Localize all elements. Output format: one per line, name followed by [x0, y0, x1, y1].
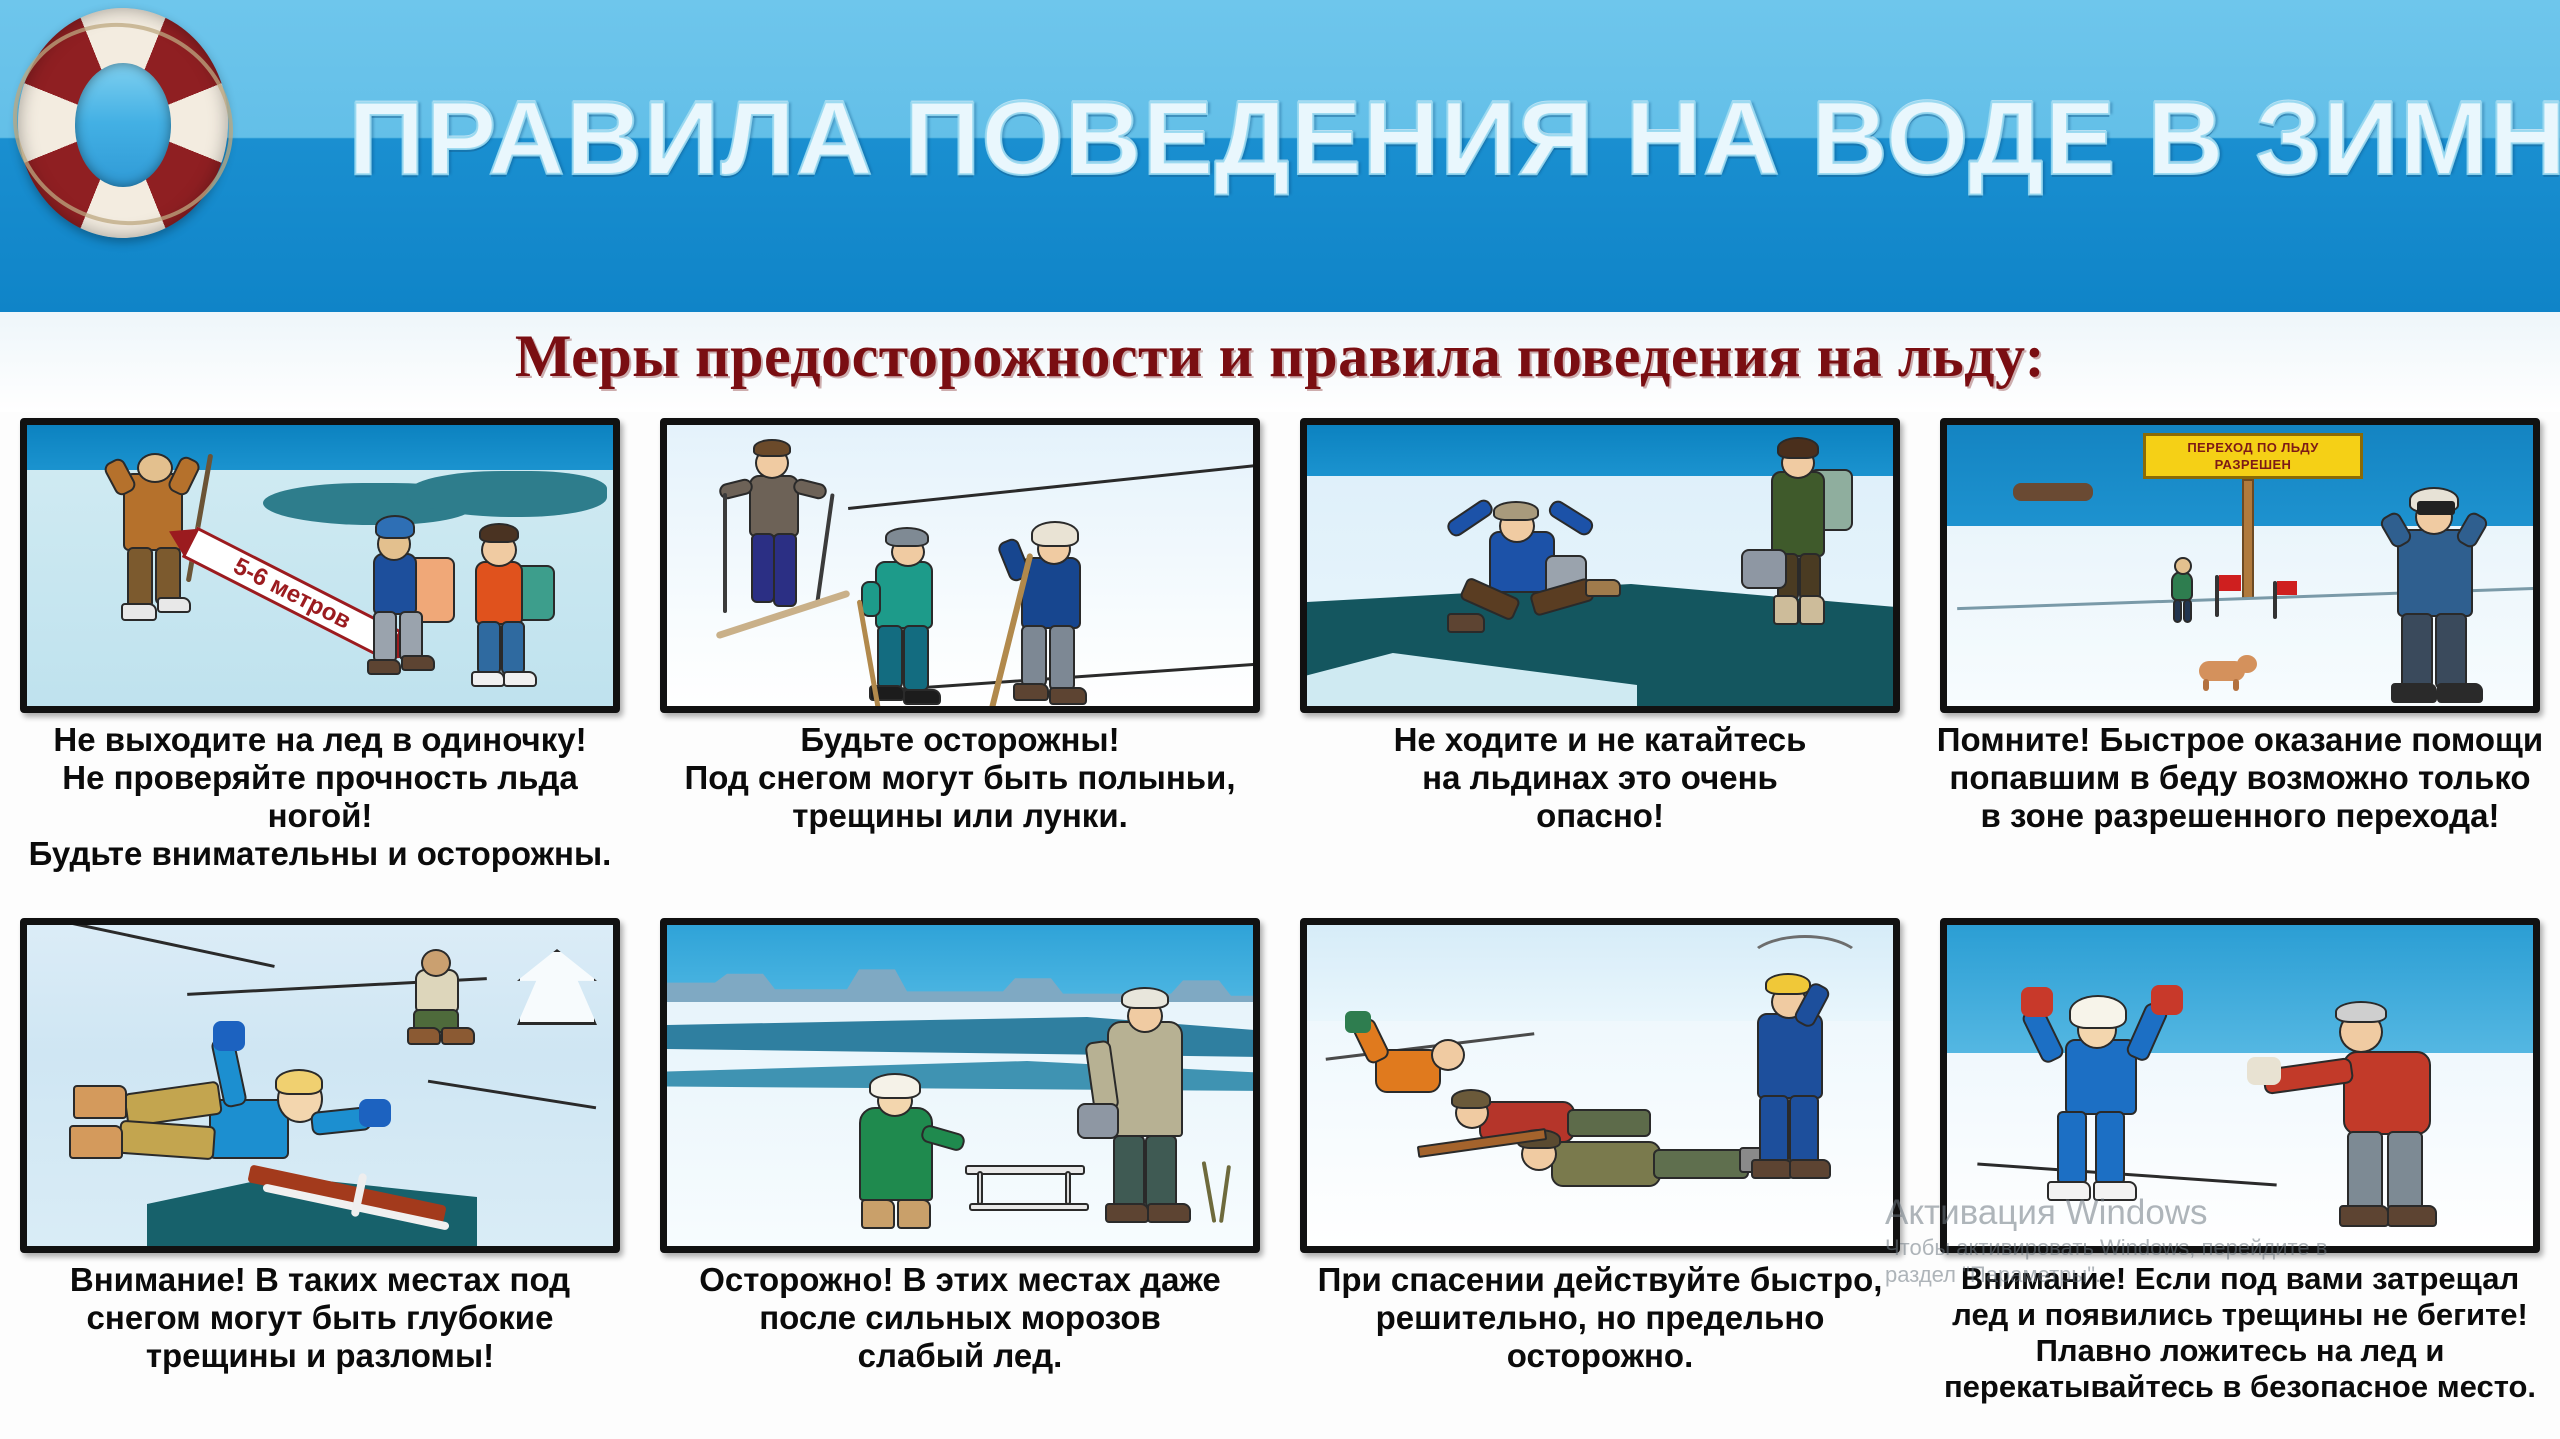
panel-7-caption: При спасении действуйте быстро, решитель…: [1288, 1261, 1912, 1375]
figure-boy-jumping: [1435, 501, 1615, 681]
caption-line: перекатывайтесь в безопасное место.: [1928, 1369, 2552, 1405]
figure-adult-observer: [1087, 985, 1227, 1235]
caption-line: Плавно ложитесь на лед и: [1928, 1333, 2552, 1369]
panel-4-image: ПЕРЕХОД ПО ЛЬДУ РАЗРЕШЕН: [1940, 418, 2540, 713]
figure-torso: [2171, 571, 2193, 601]
valenki-boot: [73, 1085, 127, 1119]
figure-leg: [2387, 1131, 2423, 1211]
knit-hat: [479, 523, 519, 543]
caption-line: Под снегом могут быть полыньи,: [648, 759, 1272, 797]
skate: [2093, 1181, 2137, 1201]
skate: [1013, 683, 1049, 701]
figure-hockey-player-green: [857, 529, 977, 713]
panel-4-caption: Помните! Быстрое оказание помощи попавши…: [1928, 721, 2552, 835]
caption-line: Осторожно! В этих местах даже: [648, 1261, 1272, 1299]
panel-6-image: [660, 918, 1260, 1253]
sign-post: [2242, 479, 2254, 599]
caption-line: Не проверяйте прочность льда ногой!: [8, 759, 632, 835]
knit-hat: [885, 527, 929, 547]
panel-5-image: [20, 918, 620, 1253]
figure-leg: [399, 611, 423, 661]
figure-leg: [2435, 613, 2467, 689]
figure-leg: [2095, 1111, 2125, 1185]
figure-arm: [1444, 497, 1496, 540]
caption-line: трещины или лунки.: [648, 797, 1272, 835]
mitten: [2247, 1057, 2281, 1085]
panel-cell-2: Будьте осторожны! Под снегом могут быть …: [640, 418, 1280, 918]
panel-cell-8: Внимание! Если под вами затрещал лед и п…: [1920, 918, 2560, 1439]
poster-header: ПРАВИЛА ПОВЕДЕНИЯ НА ВОДЕ В ЗИМНЕЕ ВРЕМЯ: [0, 0, 2560, 312]
gray-hair: [2335, 1001, 2387, 1023]
figure-leg: [2183, 599, 2192, 623]
figure-leg: [1789, 1095, 1819, 1165]
panel-8-image: [1940, 918, 2540, 1253]
red-marker-flag: [2277, 581, 2297, 595]
figure-boot: [2391, 683, 2437, 703]
figure-child-on-cracking-ice: [2017, 985, 2207, 1215]
subtitle: Меры предосторожности и правила поведени…: [0, 322, 2560, 391]
figure-head: [137, 453, 173, 483]
caption-line: Внимание! В таких местах под: [8, 1261, 632, 1299]
caption-line: трещины и разломы!: [8, 1337, 632, 1375]
panel-cell-3: Не ходите и не катайтесь на льдинах это …: [1280, 418, 1920, 918]
panel-3-caption: Не ходите и не катайтесь на льдинах это …: [1288, 721, 1912, 835]
caption-line: на льдинах это очень: [1288, 759, 1912, 797]
dog-head: [2237, 655, 2257, 673]
caption-line: Помните! Быстрое оказание помощи: [1928, 721, 2552, 759]
mitten: [213, 1021, 245, 1051]
figure-adult-reaching: [2247, 987, 2497, 1237]
valenki-boot: [897, 1199, 931, 1229]
figure-leg: [2347, 1131, 2383, 1211]
sled-leg: [1065, 1171, 1071, 1205]
sign-line-2: РАЗРЕШЕН: [2215, 456, 2292, 473]
figure-boot: [2437, 683, 2483, 703]
figure-boot: [441, 1027, 475, 1045]
caption-line: слабый лед.: [648, 1337, 1272, 1375]
panel-3-image: [1300, 418, 1900, 713]
figure-leg: [1113, 1135, 1145, 1209]
sign-line-1: ПЕРЕХОД ПО ЛЬДУ: [2187, 439, 2318, 456]
figure-boot: [471, 671, 505, 687]
figure-leg: [877, 625, 903, 689]
panel-cell-6: Осторожно! В этих местах даже после силь…: [640, 918, 1280, 1439]
knit-hat: [375, 515, 415, 539]
figure-boot: [121, 603, 157, 621]
figure-child-with-sled: [843, 1073, 983, 1253]
caption-line: Не выходите на лед в одиночку!: [8, 721, 632, 759]
figure-head: [421, 949, 451, 977]
figure-boot: [1447, 613, 1485, 633]
figure-leg: [501, 621, 525, 675]
caption-line: лед и появились трещины не бегите!: [1928, 1297, 2552, 1333]
panel-1-image: 5-6 метров: [20, 418, 620, 713]
figure-child-blue: [365, 511, 465, 686]
figure-head: [1431, 1039, 1465, 1071]
valenki-boot: [1773, 595, 1799, 625]
figure-boot: [1789, 1159, 1831, 1179]
page-title: ПРАВИЛА ПОВЕДЕНИЯ НА ВОДЕ В ЗИМНЕЕ ВРЕМЯ: [348, 78, 2560, 208]
caption-line: Будьте внимательны и осторожны.: [8, 835, 632, 873]
figure-torso: [1551, 1141, 1661, 1187]
figure-leg: [477, 621, 501, 675]
panel-row-1: 5-6 метров: [0, 418, 2560, 918]
mitten: [2021, 987, 2053, 1017]
figure-adult-observer: [1755, 439, 1875, 629]
caption-line: опасно!: [1288, 797, 1912, 835]
skate: [2047, 1181, 2091, 1201]
caption-line: решительно, но предельно: [1288, 1299, 1912, 1337]
caption-line: осторожно.: [1288, 1337, 1912, 1375]
figure-torso: [1757, 1013, 1823, 1099]
figure-leg: [903, 625, 929, 691]
panel-1-caption: Не выходите на лед в одиночку! Не провер…: [8, 721, 632, 873]
caption-line: Внимание! Если под вами затрещал: [1928, 1261, 2552, 1297]
knit-hat: [753, 439, 791, 457]
panel-cell-7: При спасении действуйте быстро, решитель…: [1280, 918, 1920, 1439]
figure-torso: [475, 561, 523, 625]
panel-2-caption: Будьте осторожны! Под снегом могут быть …: [648, 721, 1272, 835]
skate: [903, 689, 941, 705]
dog-leg: [2233, 679, 2239, 691]
dog-leg: [2203, 679, 2209, 691]
figure-boot: [503, 671, 537, 687]
figure-boot: [367, 659, 401, 675]
figure-leg: [773, 533, 797, 607]
caption-line: в зоне разрешенного перехода!: [1928, 797, 2552, 835]
figure-leg: [373, 611, 397, 663]
figure-leg: [2401, 613, 2433, 689]
figure-boot: [1751, 1159, 1793, 1179]
valenki-boot: [1799, 595, 1825, 625]
figure-leg: [751, 533, 775, 603]
caption-line: после сильных морозов: [648, 1299, 1272, 1337]
mitten: [1345, 1011, 1371, 1033]
figure-torso: [1771, 471, 1825, 557]
panel-grid: 5-6 метров: [0, 418, 2560, 1439]
briefcase: [1741, 549, 1787, 589]
figure-torso: [749, 475, 799, 537]
binoculars-icon: [2417, 501, 2455, 515]
valenki-boot: [861, 1199, 895, 1229]
figure-boot: [1585, 579, 1621, 597]
panel-cell-1: 5-6 метров: [0, 418, 640, 918]
panel-cell-5: Внимание! В таких местах под снегом могу…: [0, 918, 640, 1439]
ice-crossing-sign: ПЕРЕХОД ПО ЛЬДУ РАЗРЕШЕН: [2143, 433, 2363, 479]
figure-child-orange: [467, 521, 567, 691]
figure-dog: [2191, 651, 2261, 691]
valenki-boot: [69, 1125, 123, 1159]
sled-leg: [977, 1171, 983, 1205]
ushanka-hat: [1031, 521, 1079, 547]
figure-background-sledder: [397, 945, 487, 1055]
sled: [247, 1173, 457, 1243]
figure-boot: [1147, 1203, 1191, 1223]
figure-leg: [2173, 599, 2182, 623]
ski-pole: [723, 493, 727, 613]
winter-hat: [1451, 1089, 1491, 1109]
figure-leg: [127, 547, 153, 609]
mitten: [359, 1099, 391, 1127]
caption-line: Не ходите и не катайтесь: [1288, 721, 1912, 759]
fur-hat: [869, 1073, 921, 1099]
winter-hat: [1121, 987, 1169, 1009]
ski-pole: [815, 493, 834, 602]
panel-5-caption: Внимание! В таких местах под снегом могу…: [8, 1261, 632, 1375]
caption-line: снегом могут быть глубокие: [8, 1299, 632, 1337]
poster-root: ПРАВИЛА ПОВЕДЕНИЯ НА ВОДЕ В ЗИМНЕЕ ВРЕМЯ…: [0, 0, 2560, 1439]
winter-hat: [1493, 501, 1539, 521]
figure-boot: [1105, 1203, 1149, 1223]
panel-row-2: Внимание! В таких местах под снегом могу…: [0, 918, 2560, 1439]
skate: [1049, 687, 1087, 705]
figure-man-calling-for-help: [1727, 967, 1867, 1197]
figure-boot: [157, 597, 191, 613]
sled-runner: [969, 1203, 1089, 1211]
figure-leg: [1759, 1095, 1789, 1165]
panel-cell-4: ПЕРЕХОД ПО ЛЬДУ РАЗРЕШЕН: [1920, 418, 2560, 918]
signal-wave: [1745, 935, 1865, 995]
figure-boot: [407, 1027, 441, 1045]
figure-leg: [1145, 1135, 1177, 1209]
fur-hat: [1777, 437, 1819, 459]
background-vehicle: [2013, 483, 2093, 501]
lifebuoy-hole: [75, 63, 172, 187]
figure-arm: [861, 581, 881, 617]
mitten: [2151, 985, 2183, 1015]
sled: [965, 1161, 1095, 1225]
figure-leg: [2057, 1111, 2087, 1185]
panel-8-caption: Внимание! Если под вами затрещал лед и п…: [1928, 1261, 2552, 1405]
figure-hockey-player-blue: [997, 521, 1127, 713]
figure-boot: [2387, 1205, 2437, 1227]
figure-head: [2174, 557, 2192, 575]
lifebuoy-icon: [18, 8, 228, 238]
figure-leg: [1799, 553, 1821, 601]
figure-leg: [1021, 625, 1047, 687]
figure-boot: [401, 655, 435, 671]
caption-line: попавшим в беду возможно только: [1928, 759, 2552, 797]
figure-leg: [118, 1120, 216, 1161]
panel-6-caption: Осторожно! В этих местах даже после силь…: [648, 1261, 1272, 1375]
figure-leg: [1049, 625, 1075, 691]
fur-hood: [2069, 995, 2127, 1029]
figure-skier: [717, 439, 847, 659]
briefcase: [1077, 1103, 1119, 1139]
figure-torso: [2343, 1051, 2431, 1135]
figure-child-crossing: [2163, 557, 2203, 627]
figure-arm: [1546, 498, 1596, 539]
figure-boot: [2339, 1205, 2389, 1227]
red-marker-flag: [2219, 575, 2241, 591]
caption-line: Будьте осторожны!: [648, 721, 1272, 759]
figure-torso: [373, 553, 417, 615]
figure-torso: [875, 561, 933, 629]
hair: [275, 1069, 323, 1095]
figure-coat: [859, 1107, 933, 1201]
panel-2-image: [660, 418, 1260, 713]
caption-line: При спасении действуйте быстро,: [1288, 1261, 1912, 1299]
panel-7-image: [1300, 918, 1900, 1253]
figure-rescuer-with-binoculars: [2367, 485, 2527, 713]
